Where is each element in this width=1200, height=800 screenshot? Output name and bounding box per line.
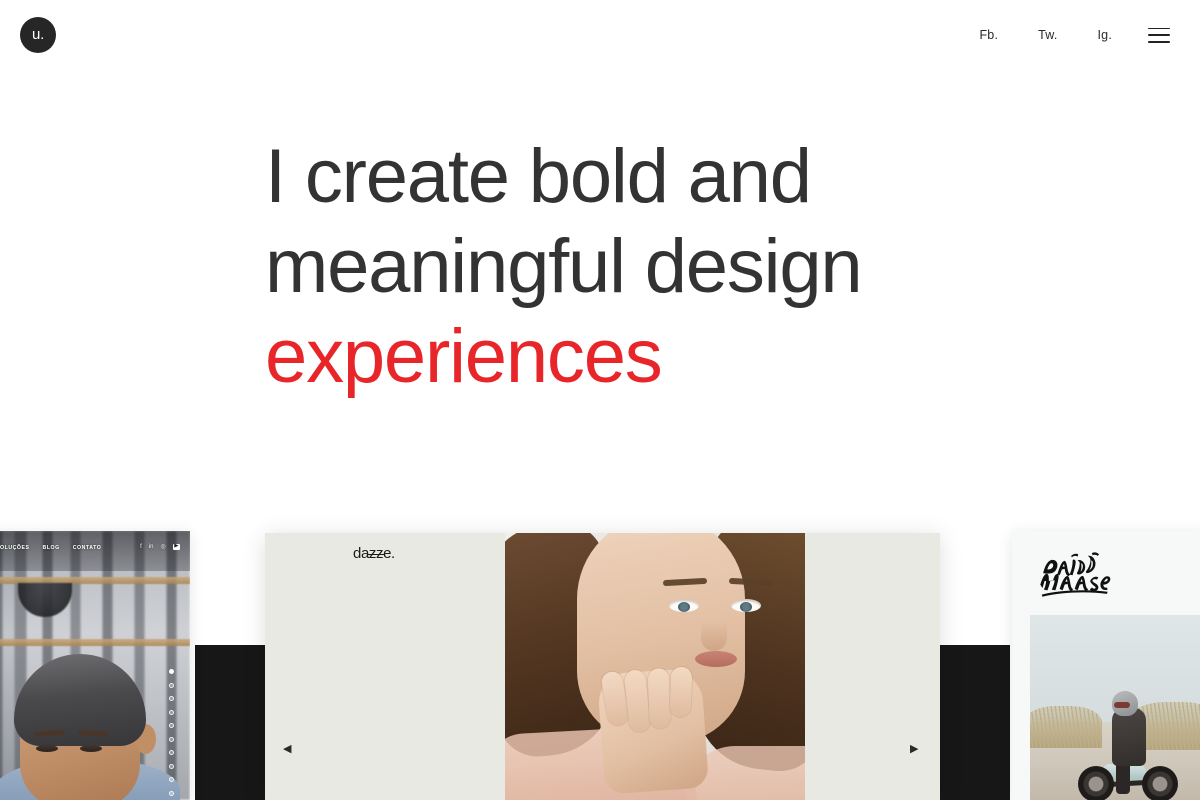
eye (36, 745, 58, 752)
left-nav-blog[interactable]: BLOG (43, 545, 60, 551)
hero-line-1: I create bold and (265, 132, 1165, 222)
bike-wheel (1078, 766, 1114, 800)
bike-wheel (1142, 766, 1178, 800)
backdrop-panel-right (940, 645, 1010, 800)
hero-section: I create bold and meaningful design expe… (265, 132, 1165, 402)
hand (597, 668, 709, 795)
eye (669, 599, 699, 612)
motorcycle-photo (1030, 615, 1200, 800)
nav-link-twitter[interactable]: Tw. (1018, 22, 1077, 48)
eyebrow (663, 578, 707, 586)
dot-indicator[interactable] (169, 750, 174, 755)
dot-indicator[interactable] (169, 683, 174, 688)
eyebrow (729, 578, 773, 586)
eye (731, 599, 761, 612)
dazze-logo-prefix: da (353, 545, 369, 562)
left-nav-solucoes[interactable]: SOLUÇÕES (0, 545, 30, 551)
dune-grass (1030, 706, 1102, 748)
iris (740, 602, 752, 612)
rider-helmet (1112, 691, 1138, 716)
facebook-icon[interactable]: f (140, 544, 142, 550)
finger (648, 668, 671, 729)
backdrop-panel-left (195, 645, 265, 800)
nose (701, 621, 727, 651)
eye (80, 745, 102, 752)
dot-indicator[interactable] (169, 737, 174, 742)
hero-line-2: meaningful design (265, 222, 1165, 312)
header-nav: Fb. Tw. Ig. (959, 22, 1174, 48)
dot-indicator[interactable] (169, 791, 174, 796)
lips (695, 651, 737, 667)
person-photo (0, 618, 166, 800)
dot-indicator[interactable] (169, 669, 174, 674)
nav-link-instagram[interactable]: Ig. (1078, 22, 1133, 48)
left-card-screenshot: SOLUÇÕES BLOG CONTATO f in ◎ ▶ (0, 531, 190, 800)
dot-indicator[interactable] (169, 777, 174, 782)
left-card-dot-nav[interactable] (169, 669, 174, 796)
david-haase-script-svg (1036, 547, 1122, 605)
burger-line (1148, 28, 1170, 30)
iris (678, 602, 690, 612)
youtube-icon[interactable]: ▶ (173, 544, 180, 550)
dot-indicator[interactable] (169, 723, 174, 728)
portfolio-card-right[interactable] (1012, 531, 1200, 800)
dot-indicator[interactable] (169, 764, 174, 769)
left-card-social: f in ◎ ▶ (140, 544, 180, 550)
instagram-icon[interactable]: ◎ (161, 544, 166, 550)
finger (669, 667, 692, 718)
dazze-logo-strike: zz (369, 545, 383, 562)
dot-indicator[interactable] (169, 710, 174, 715)
carousel-prev-arrow[interactable]: ◀ (283, 744, 291, 755)
woman-portrait-photo (505, 533, 805, 800)
portfolio-card-center[interactable]: dazze. (265, 533, 940, 800)
portfolio-card-left[interactable]: SOLUÇÕES BLOG CONTATO f in ◎ ▶ (0, 531, 190, 800)
burger-line (1148, 41, 1170, 43)
page-root: u. Fb. Tw. Ig. I create bold and meaning… (0, 0, 1200, 800)
hamburger-menu-icon[interactable] (1148, 28, 1170, 43)
burger-line (1148, 34, 1170, 36)
rider-body (1112, 708, 1146, 766)
dazze-logo-suffix: e. (383, 545, 395, 562)
carousel-next-arrow[interactable]: ▶ (910, 744, 918, 755)
dot-indicator[interactable] (169, 696, 174, 701)
david-haase-logo[interactable] (1036, 547, 1122, 605)
linkedin-icon[interactable]: in (149, 544, 154, 550)
nav-link-facebook[interactable]: Fb. (959, 22, 1018, 48)
left-card-nav: SOLUÇÕES BLOG CONTATO (0, 545, 101, 551)
hero-line-3-accent: experiences (265, 312, 1165, 402)
left-nav-contato[interactable]: CONTATO (73, 545, 102, 551)
finger (624, 669, 651, 733)
dazze-logo[interactable]: dazze. (353, 545, 395, 562)
site-header: u. Fb. Tw. Ig. (0, 0, 1200, 70)
left-card-topbar (0, 531, 190, 571)
site-logo[interactable]: u. (20, 17, 56, 53)
